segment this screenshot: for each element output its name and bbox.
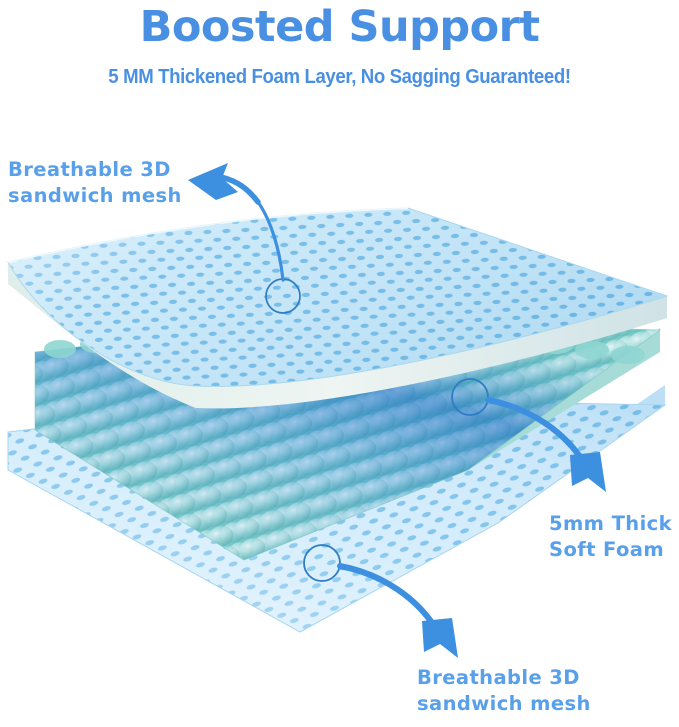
callout-label-line1: Breathable 3D (417, 666, 580, 689)
curved-arrow-down-right (422, 618, 458, 658)
infographic-canvas: Boosted Support 5 MM Thickened Foam Laye… (0, 0, 679, 727)
callout-label-bottom-mesh: Breathable 3Dsandwich mesh (417, 665, 591, 717)
callout-label-top-mesh: Breathable 3Dsandwich mesh (8, 157, 182, 209)
page-subtitle: 5 MM Thickened Foam Layer, No Sagging Gu… (24, 66, 655, 89)
page-title: Boosted Support (0, 2, 679, 52)
callout-label-line2: sandwich mesh (8, 184, 182, 207)
callout-label-line2: sandwich mesh (417, 692, 591, 715)
curved-arrow-down-right (570, 452, 606, 492)
callout-label-foam: 5mm ThickSoft Foam (549, 511, 672, 563)
callout-label-line1: 5mm Thick (549, 512, 672, 535)
product-exploded-view (0, 0, 679, 727)
callout-label-line1: Breathable 3D (8, 158, 171, 181)
callout-label-line2: Soft Foam (549, 538, 664, 561)
